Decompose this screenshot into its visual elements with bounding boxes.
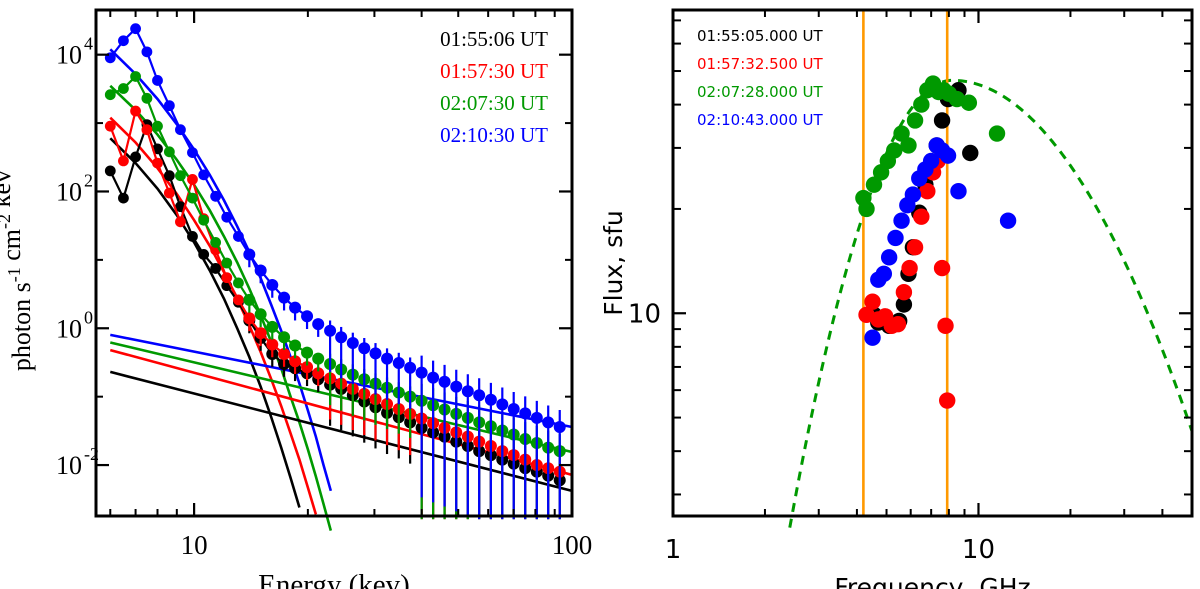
data-point — [118, 193, 129, 204]
data-point — [358, 342, 370, 354]
data-point — [210, 263, 221, 274]
data-point — [198, 215, 209, 226]
data-point — [907, 239, 923, 255]
data-point — [243, 312, 255, 324]
data-point — [187, 174, 198, 185]
data-point — [175, 170, 186, 181]
data-point — [881, 249, 897, 265]
data-point — [416, 367, 428, 379]
data-point — [962, 145, 978, 161]
data-point — [175, 216, 186, 227]
data-point — [404, 362, 416, 374]
data-point — [347, 337, 359, 349]
y-axis-label: Flux, sfu — [600, 210, 628, 316]
data-point — [152, 121, 163, 132]
legend-entry-0: 01:55:06 UT — [440, 27, 548, 51]
model-curve-thermal-01:57:30 — [110, 118, 316, 515]
y-tick-label: 100 — [56, 307, 93, 343]
data-point — [858, 201, 874, 217]
data-point — [900, 137, 916, 153]
data-point — [913, 96, 929, 112]
data-point — [439, 376, 451, 388]
data-point — [187, 147, 198, 158]
data-point — [462, 385, 474, 397]
data-point — [164, 146, 175, 157]
legend-entry-1: 01:57:32.500 UT — [697, 55, 824, 73]
data-point — [142, 46, 153, 57]
data-point — [312, 318, 324, 330]
data-point — [301, 347, 313, 359]
svg-text:2: 2 — [84, 170, 93, 190]
data-point — [266, 279, 278, 291]
data-point — [335, 331, 347, 343]
data-point — [243, 294, 255, 306]
svg-text:10: 10 — [56, 314, 82, 343]
data-point — [989, 125, 1005, 141]
legend-entry-1: 01:57:30 UT — [440, 59, 548, 83]
data-point — [142, 124, 153, 135]
data-point — [130, 106, 141, 117]
data-point — [905, 186, 921, 202]
data-point — [164, 188, 175, 199]
data-point — [233, 294, 244, 305]
hxr-spectrum-panel: 1010010410210010-2Energy (kev)photon s-1… — [0, 0, 600, 589]
data-point — [864, 293, 880, 309]
solar-flare-spectra-figure: 1010010410210010-2Energy (kev)photon s-1… — [0, 0, 1200, 589]
data-point — [198, 249, 209, 260]
hxr-series-01-55-06-UT — [105, 119, 566, 519]
data-point — [370, 347, 382, 359]
svg-text:-2: -2 — [84, 444, 99, 464]
x-tick-label: 10 — [962, 535, 995, 565]
data-point — [324, 325, 336, 337]
data-point — [105, 89, 116, 100]
x-tick-label: 100 — [552, 530, 593, 560]
data-point — [221, 258, 232, 269]
series-polyline — [110, 125, 307, 374]
data-point — [164, 100, 175, 111]
data-point — [105, 165, 116, 176]
data-point — [1000, 212, 1016, 228]
data-point — [450, 381, 462, 393]
x-tick-label: 10 — [181, 530, 208, 560]
y-tick-label: 102 — [56, 170, 93, 206]
data-point — [519, 407, 531, 419]
microwave-spectrum-panel: 11010Frequency, GHzFlux, sfu01:55:05.000… — [600, 0, 1200, 589]
data-point — [152, 75, 163, 86]
data-point — [278, 331, 290, 343]
svg-text:10: 10 — [56, 451, 82, 480]
data-point — [130, 71, 141, 82]
data-point — [887, 230, 903, 246]
data-point — [187, 231, 198, 242]
legend-entry-3: 02:10:43.000 UT — [697, 111, 824, 129]
data-point — [243, 248, 255, 260]
data-point — [896, 284, 912, 300]
y-tick-label: 104 — [56, 34, 93, 70]
data-point — [289, 302, 301, 314]
data-point — [890, 316, 906, 332]
data-point — [913, 208, 929, 224]
data-point — [886, 142, 902, 158]
y-tick-label: 10-2 — [56, 444, 99, 480]
svg-text:4: 4 — [84, 34, 93, 54]
y-tick-label: 10 — [628, 299, 661, 329]
data-point — [934, 260, 950, 276]
plot-frame — [96, 10, 572, 516]
data-point — [381, 353, 393, 365]
data-point — [393, 357, 405, 369]
data-point — [266, 321, 278, 333]
data-point — [893, 212, 909, 228]
data-point — [175, 124, 186, 135]
x-axis-label: Frequency, GHz — [834, 573, 1030, 589]
data-point — [164, 170, 175, 181]
data-point — [939, 392, 955, 408]
x-axis-label: Energy (kev) — [258, 569, 410, 589]
data-point — [934, 112, 950, 128]
data-point — [255, 327, 267, 339]
data-point — [130, 152, 141, 163]
svg-text:10: 10 — [56, 177, 82, 206]
data-point — [210, 191, 221, 202]
data-point — [473, 389, 485, 401]
svg-text:10: 10 — [56, 41, 82, 70]
data-point — [937, 318, 953, 334]
legend-entry-2: 02:07:28.000 UT — [697, 83, 824, 101]
data-point — [940, 147, 956, 163]
data-point — [278, 292, 290, 304]
data-point — [255, 264, 267, 276]
mw-text-layer: 11010Frequency, GHzFlux, sfu01:55:05.000… — [600, 27, 1031, 589]
data-point — [152, 158, 163, 169]
data-point — [233, 278, 244, 289]
data-point — [496, 398, 508, 410]
data-point — [950, 183, 966, 199]
data-point — [142, 93, 153, 104]
data-point — [118, 35, 129, 46]
data-point — [255, 308, 267, 320]
data-point — [542, 416, 554, 428]
data-point — [485, 394, 497, 406]
svg-text:0: 0 — [84, 307, 93, 327]
legend-entry-0: 01:55:05.000 UT — [697, 27, 824, 45]
data-point — [221, 212, 232, 223]
data-point — [427, 372, 439, 384]
data-point — [508, 403, 520, 415]
data-point — [876, 266, 892, 282]
data-point — [105, 121, 116, 132]
mw-data-layer — [790, 10, 1192, 528]
data-point — [554, 421, 566, 433]
legend-entry-2: 02:07:30 UT — [440, 91, 548, 115]
data-point — [210, 237, 221, 248]
data-point — [531, 412, 543, 424]
data-point — [198, 169, 209, 180]
fit-curve-fit-02:07:28 — [790, 80, 1192, 527]
data-point — [233, 231, 244, 242]
data-point — [221, 272, 232, 283]
hxr-axes-layer — [96, 10, 572, 516]
data-point — [118, 155, 129, 166]
data-point — [901, 260, 917, 276]
data-point — [266, 338, 278, 350]
data-point — [864, 330, 880, 346]
legend-entry-3: 02:10:30 UT — [440, 123, 548, 147]
data-point — [907, 112, 923, 128]
y-axis-label: photon s-1 cm-2 kev-1 — [0, 155, 36, 371]
hxr-series-01-57-30-UT — [105, 106, 566, 520]
data-point — [301, 310, 313, 322]
data-point — [130, 23, 141, 34]
data-point — [187, 193, 198, 204]
data-point — [961, 95, 977, 111]
data-point — [312, 353, 324, 365]
data-point — [289, 339, 301, 351]
data-point — [118, 83, 129, 94]
x-tick-label: 1 — [665, 535, 682, 565]
